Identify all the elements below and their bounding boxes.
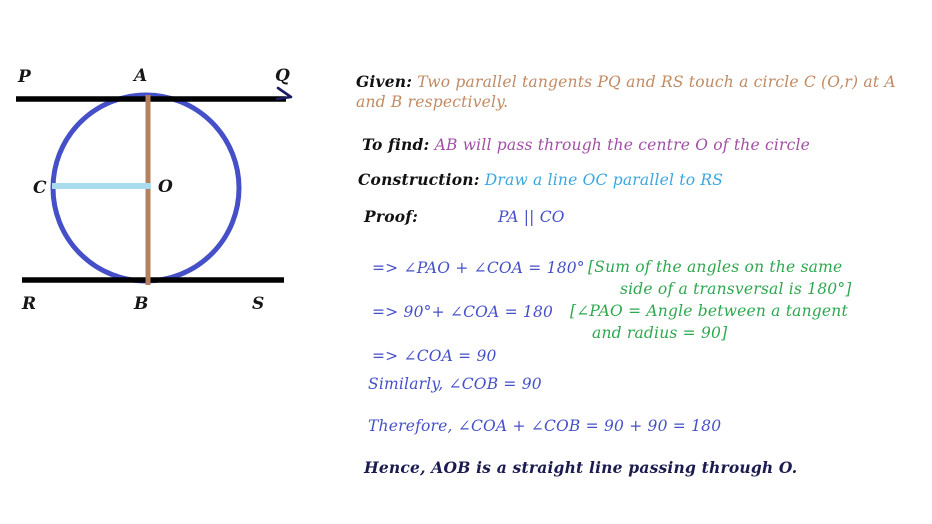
step-2-reason-line-2: and radius = 90] <box>592 323 727 342</box>
point-label-b: B <box>134 294 149 314</box>
step-5-statement-text: Therefore, ∠COA + ∠COB = 90 + 90 = 180 <box>368 417 721 435</box>
proof-text: PA || CO <box>498 208 565 226</box>
step-2-statement: => 90°+ ∠COA = 180 <box>372 302 553 321</box>
point-label-q: Q <box>275 66 290 86</box>
step-5-statement: Therefore, ∠COA + ∠COB = 90 + 90 = 180 <box>368 416 721 435</box>
proof-label-block: Proof: <box>364 207 418 226</box>
geometry-figure: P A Q C O R B S <box>0 0 340 524</box>
step-1-reason-text-2: side of a transversal is 180°] <box>620 280 852 298</box>
construction-block: Construction: Draw a line OC parallel to… <box>358 170 723 189</box>
step-4-statement-text: Similarly, ∠COB = 90 <box>368 375 542 393</box>
point-label-c: C <box>33 178 47 198</box>
step-3-statement-text: => ∠COA = 90 <box>372 347 497 365</box>
step-4-statement: Similarly, ∠COB = 90 <box>368 374 542 393</box>
step-1-statement: => ∠PAO + ∠COA = 180° <box>372 258 585 277</box>
point-label-r: R <box>22 294 36 314</box>
step-2-reason-text-2: and radius = 90] <box>592 324 727 342</box>
conclusion-text: Hence, AOB is a straight line passing th… <box>364 458 797 477</box>
point-label-s: S <box>252 294 265 314</box>
step-1-reason-text-1: [Sum of the angles on the same <box>588 258 842 276</box>
proof-label: Proof: <box>364 207 418 226</box>
point-label-o: O <box>158 177 173 197</box>
step-2-statement-text: => 90°+ ∠COA = 180 <box>372 303 553 321</box>
construction-text: Draw a line OC parallel to RS <box>485 171 723 189</box>
step-1-reason-line-2: side of a transversal is 180°] <box>620 279 852 298</box>
given-text: Two parallel tangents PQ and RS touch a … <box>356 73 896 111</box>
conclusion-statement: Hence, AOB is a straight line passing th… <box>364 458 797 477</box>
to-find-text: AB will pass through the centre O of the… <box>435 136 810 154</box>
point-label-a: A <box>134 66 148 86</box>
step-2-reason-line-1: [∠PAO = Angle between a tangent <box>570 301 848 320</box>
point-label-p: P <box>18 67 31 87</box>
step-1-reason-line-1: [Sum of the angles on the same <box>588 257 842 276</box>
to-find-label: To find: <box>362 135 429 154</box>
proof-statement-block: PA || CO <box>498 207 565 226</box>
worksheet-page: P A Q C O R B S Given: Two parallel tang… <box>0 0 932 524</box>
given-block: Given: Two parallel tangents PQ and RS t… <box>356 72 926 112</box>
given-label: Given: <box>356 72 412 91</box>
step-1-statement-text: => ∠PAO + ∠COA = 180° <box>372 259 585 277</box>
step-3-statement: => ∠COA = 90 <box>372 346 497 365</box>
to-find-block: To find: AB will pass through the centre… <box>362 135 810 154</box>
construction-label: Construction: <box>358 170 480 189</box>
step-2-reason-text-1: [∠PAO = Angle between a tangent <box>570 302 848 320</box>
